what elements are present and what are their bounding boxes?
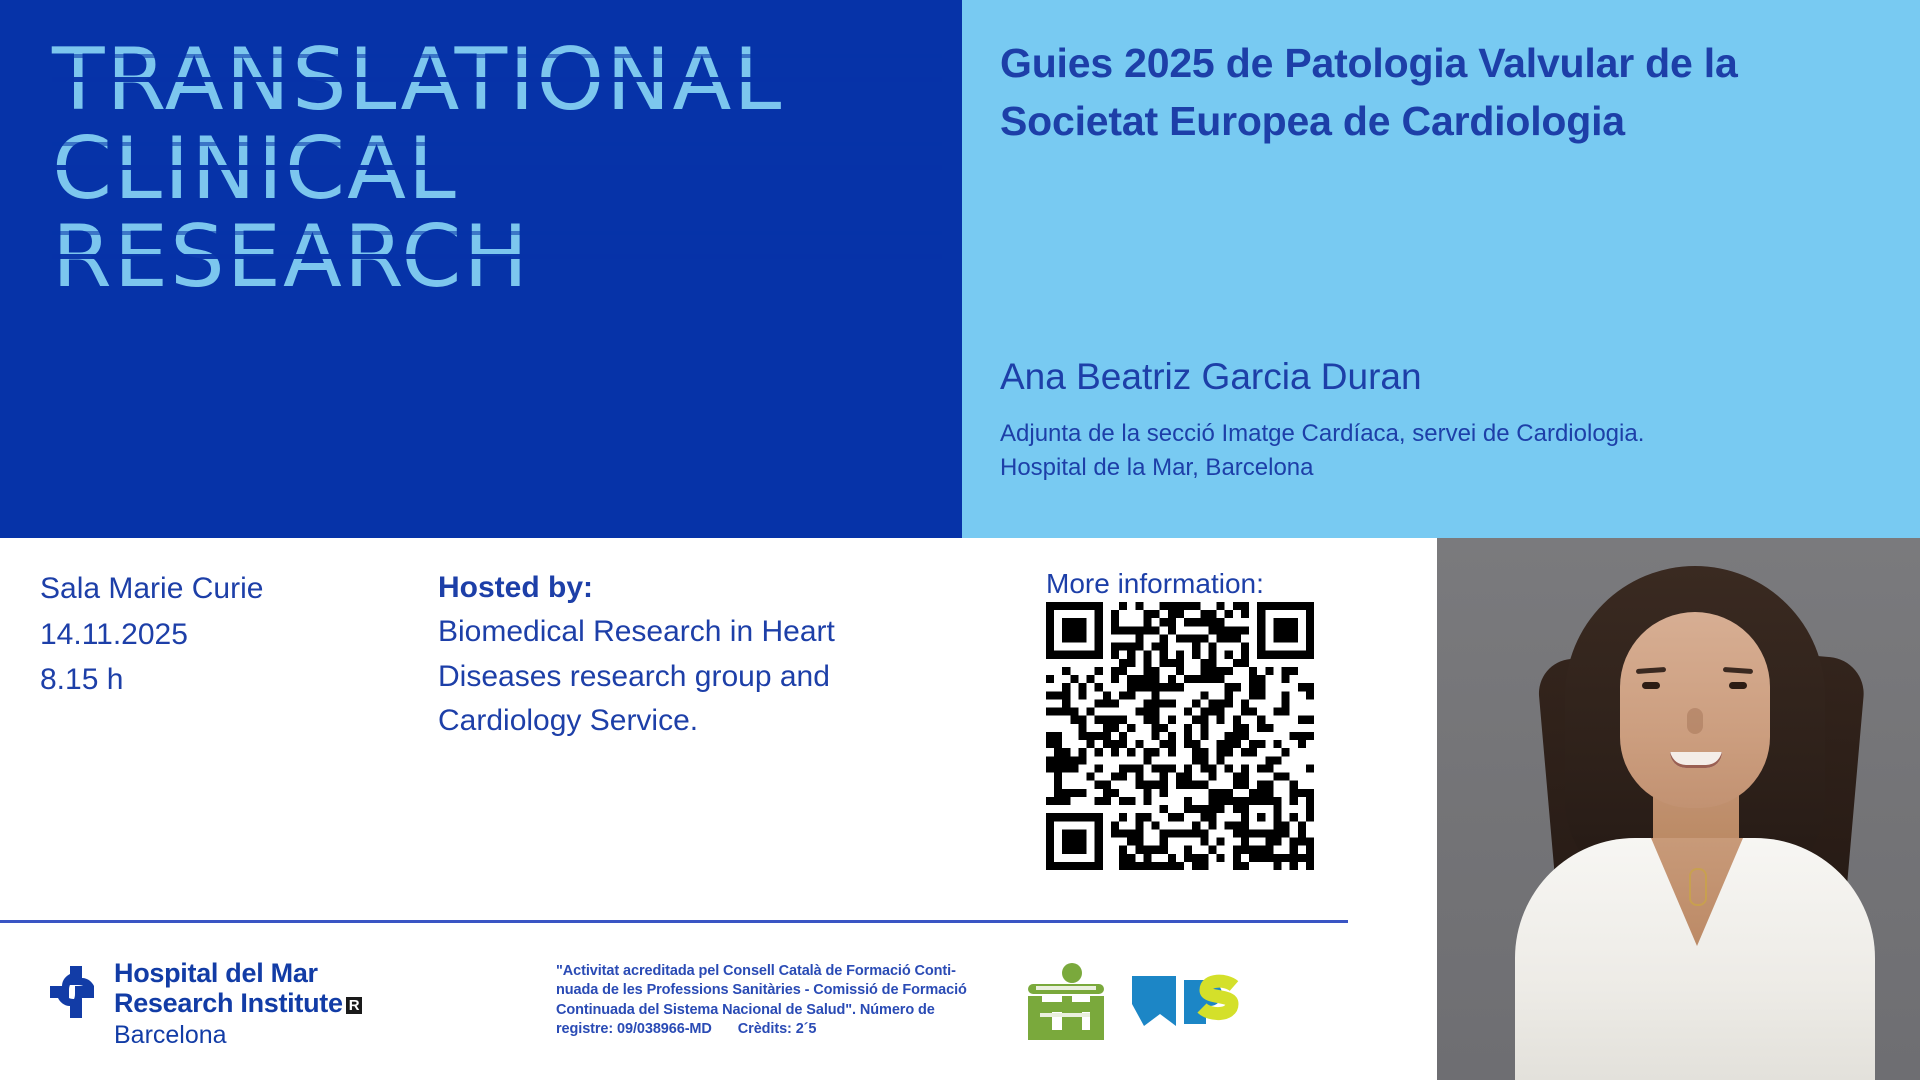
- hospital-del-mar-logo: Hospital del Mar Research InstituteR Bar…: [48, 958, 438, 1054]
- speaker-name: Ana Beatriz Garcia Duran: [1000, 355, 1880, 399]
- pinwheel-cross-icon: [48, 964, 104, 1020]
- hospital-logo-text: Hospital del Mar Research InstituteR Bar…: [114, 958, 434, 1050]
- date-label: 14.11.2025: [40, 612, 400, 658]
- accreditation-line-4: registre: 09/038966-MDCrèdits: 2´5: [556, 1020, 1016, 1039]
- hosted-by-block: Hosted by: Biomedical Research in Heart …: [438, 566, 868, 744]
- logo-line-1: TRANSLATIONAL: [52, 36, 942, 125]
- accreditation-credits: Crèdits: 2´5: [738, 1021, 817, 1037]
- hospital-logo-line-3: Barcelona: [114, 1020, 434, 1050]
- event-details: Sala Marie Curie 14.11.2025 8.15 h: [40, 566, 400, 703]
- page-title: Guies 2025 de Patologia Valvular de la S…: [1000, 34, 1880, 150]
- time-label: 8.15 h: [40, 657, 400, 703]
- qr-code[interactable]: [1046, 602, 1314, 870]
- photo-eye-right: [1729, 682, 1747, 689]
- footer-divider: [0, 920, 1348, 923]
- more-information-label: More information:: [1046, 568, 1386, 600]
- hosted-by-value: Biomedical Research in Heart Diseases re…: [438, 615, 835, 737]
- speaker-affiliation-line-1: Adjunta de la secció Imatge Cardíaca, se…: [1000, 420, 1644, 447]
- venue-label: Sala Marie Curie: [40, 566, 400, 612]
- hospital-logo-line-2: Research InstituteR: [114, 988, 434, 1018]
- logo-line-2: CLINICAL: [52, 125, 942, 214]
- accreditation-line-2: nuada de les Professions Sanitàries - Co…: [556, 981, 1016, 1000]
- translational-clinical-research-logo: TRANSLATIONAL CLINICAL RESEARCH: [52, 36, 942, 302]
- speaker-affiliation: Adjunta de la secció Imatge Cardíaca, se…: [1000, 417, 1880, 485]
- accreditation-line-1: "Activitat acreditada pel Consell Català…: [556, 962, 1016, 981]
- accreditation-text: "Activitat acreditada pel Consell Català…: [556, 962, 1016, 1040]
- ps-logo-icon: [1130, 970, 1242, 1032]
- photo-necklace: [1689, 868, 1707, 906]
- registered-mark-icon: R: [346, 997, 363, 1014]
- photo-mouth: [1670, 752, 1722, 768]
- logo-line-3: RESEARCH: [52, 213, 942, 302]
- accreditation-line-3: Continuada del Sistema Nacional de Salud…: [556, 1001, 1016, 1020]
- hospital-logo-line-2-text: Research Institute: [114, 988, 343, 1018]
- speaker-affiliation-line-2: Hospital de la Mar, Barcelona: [1000, 454, 1314, 481]
- hosted-by-label: Hosted by:: [438, 566, 868, 610]
- accreditation-registry: registre: 09/038966-MD: [556, 1021, 712, 1037]
- photo-nose: [1687, 708, 1703, 734]
- cfc-logo-icon: [1022, 958, 1110, 1046]
- photo-eye-left: [1642, 682, 1660, 689]
- event-poster: TRANSLATIONAL CLINICAL RESEARCH Guies 20…: [0, 0, 1920, 1080]
- speaker-photo: [1437, 538, 1920, 1080]
- hospital-logo-line-1: Hospital del Mar: [114, 958, 434, 988]
- brand-panel: TRANSLATIONAL CLINICAL RESEARCH: [0, 0, 962, 538]
- header-band: TRANSLATIONAL CLINICAL RESEARCH Guies 20…: [0, 0, 1920, 538]
- qr-code-icon[interactable]: [1046, 602, 1314, 870]
